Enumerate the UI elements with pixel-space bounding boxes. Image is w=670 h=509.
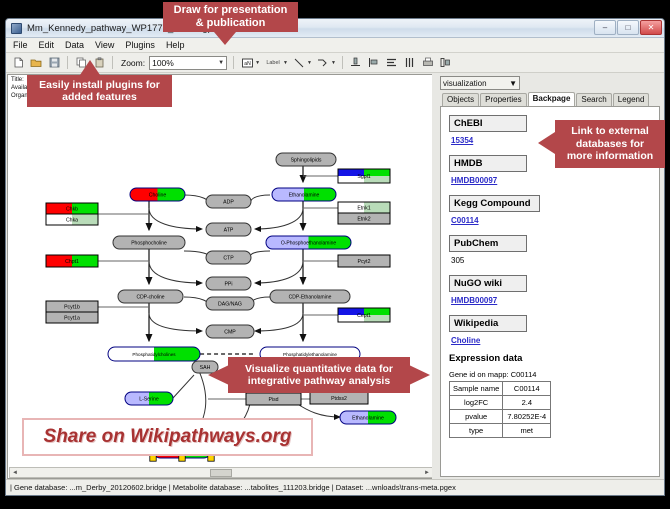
data-node-tool[interactable]: aN ▼ [240, 56, 260, 70]
callout-quant-arrow-right [409, 365, 430, 385]
metabolite-label: DAG/NAG [218, 301, 242, 307]
expression-row-value: C00114 [503, 382, 551, 396]
side-panel-tabs[interactable]: Objects Properties Backpage Search Legen… [437, 92, 663, 106]
metabolite-label: Sphingolipids [291, 157, 322, 163]
gene-node-etnk1[interactable]: Etnk1 [338, 202, 390, 213]
gene-label: Pcyt1a [64, 316, 80, 322]
group-icon[interactable] [439, 56, 453, 70]
metabolite-node-cmp[interactable]: CMP [206, 325, 254, 338]
metabolite-label: ATP [224, 227, 234, 233]
expression-row-label: pvalue [450, 410, 503, 424]
tab-objects[interactable]: Objects [442, 93, 479, 106]
db-header-hmdb: HMDB [449, 155, 527, 172]
expression-row-value: met [503, 424, 551, 438]
zoom-label: Zoom: [121, 58, 145, 68]
save-icon[interactable] [47, 56, 61, 70]
align-top-icon[interactable] [349, 56, 363, 70]
gene-node-pcyt2[interactable]: Pcyt2 [338, 255, 390, 267]
line-tool[interactable]: ▼ [292, 56, 312, 70]
callout-quant-arrow-left [208, 365, 229, 385]
metabolite-node-ctp[interactable]: CTP [206, 251, 251, 264]
menu-edit[interactable]: Edit [38, 40, 56, 50]
window-controls[interactable]: – □ ✕ [594, 20, 662, 35]
metabolite-label: CDP-Ethanolamine [289, 294, 332, 300]
expression-row-label: log2FC [450, 396, 503, 410]
callout-link-arrow [538, 132, 555, 154]
callout-draw-line2: & publication [174, 17, 288, 30]
metabolite-label: Phosphocholine [131, 240, 167, 246]
pathway-nodes-layer[interactable]: SphingolipidsCholineEthanolamineADPATPPh… [46, 153, 396, 461]
chevron-down-icon: ▼ [218, 60, 224, 66]
metabolite-node-dag-nag[interactable]: DAG/NAG [206, 297, 254, 310]
db-link-hmdb[interactable]: HMDB00097 [451, 176, 659, 185]
callout-link-line1: Link to external [567, 125, 653, 137]
metabolite-node-choline-top[interactable]: Choline [130, 188, 185, 201]
db-header-wikipedia: Wikipedia [449, 315, 527, 332]
db-header-kegg: Kegg Compound [449, 195, 540, 212]
metabolite-node-ppi[interactable]: PPi [206, 277, 251, 290]
data-node-icon[interactable]: aN [240, 56, 254, 70]
metabolite-node-ethanolamine-bottom[interactable]: Ethanolamine [340, 411, 396, 424]
visualization-row: visualization ▼ [437, 74, 663, 92]
db-header-nugo: NuGO wiki [449, 275, 527, 292]
metabolite-node-cdp-ethanolamine[interactable]: CDP-Ethanolamine [270, 290, 350, 303]
db-header-pubchem: PubChem [449, 235, 527, 252]
metabolite-label: CDP-choline [136, 294, 164, 300]
callout-quant-line2: integrative pathway analysis [245, 375, 393, 387]
callout-link-line2: databases for [567, 138, 653, 150]
gene-label: Pisd [268, 397, 278, 403]
metabolite-node-sphingolipids[interactable]: Sphingolipids [276, 153, 336, 166]
zoom-combobox[interactable]: 100% ▼ [149, 56, 227, 70]
gene-label: Cept1 [357, 313, 371, 319]
new-file-icon[interactable] [11, 56, 25, 70]
toolbar-separator [67, 56, 68, 69]
gene-node-pcyt1a[interactable]: Pcyt1a [46, 312, 98, 323]
callout-plugins-arrow [80, 60, 100, 75]
menu-help[interactable]: Help [165, 40, 186, 50]
label-tool-icon[interactable]: Label [264, 56, 282, 70]
minimize-button[interactable]: – [594, 20, 616, 35]
gene-label: Chpt1 [65, 259, 79, 265]
metabolite-label: CTP [223, 255, 234, 261]
maximize-button[interactable]: □ [617, 20, 639, 35]
gene-node-chkb[interactable]: Chkb [46, 203, 98, 214]
gene-label: Chkb [66, 207, 78, 213]
chevron-down-icon[interactable]: ▼ [331, 60, 336, 66]
expression-table-row: Sample nameC00114 [450, 382, 551, 396]
metabolite-label: ADP [223, 199, 234, 205]
gene-node-etnk2[interactable]: Etnk2 [338, 213, 390, 224]
gene-node-chpt1[interactable]: Chpt1 [46, 255, 98, 267]
gene-node-ptdss2[interactable]: Ptdss2 [310, 392, 368, 404]
callout-visualize-quantitative-data: Visualize quantitative data for integrat… [228, 357, 410, 393]
print-icon[interactable] [421, 56, 435, 70]
callout-install-plugins: Easily install plugins for added feature… [27, 75, 172, 107]
tab-legend[interactable]: Legend [613, 93, 650, 106]
callout-external-links: Link to external databases for more info… [555, 120, 665, 168]
db-header-chebi: ChEBI [449, 115, 527, 132]
toolbar-separator-2 [112, 56, 113, 69]
metabolite-node-cdp-choline[interactable]: CDP-choline [118, 290, 183, 303]
expression-table: Sample nameC00114log2FC2.4pvalue7.80252E… [449, 381, 551, 438]
expression-row-value: 7.80252E-4 [503, 410, 551, 424]
zoom-value: 100% [152, 58, 174, 68]
toolbar-separator-4 [342, 56, 343, 69]
callout-draw-for-publication: Draw for presentation & publication [163, 2, 298, 32]
expression-row-label: type [450, 424, 503, 438]
metabolite-node-ethanolamine-top[interactable]: Ethanolamine [272, 188, 336, 201]
tab-properties[interactable]: Properties [480, 93, 526, 106]
gene-label: Sgpl1 [357, 174, 370, 180]
metabolite-node-o-phosphoethanolamine[interactable]: O-Phosphoethanolamine [266, 236, 351, 249]
callout-draw-line1: Draw for presentation [174, 4, 288, 17]
distribute-icon[interactable] [403, 56, 417, 70]
status-bar: | Gene database: ...m_Derby_20120602.bri… [6, 479, 664, 495]
expression-data-title: Expression data [449, 353, 659, 364]
line-tool-icon[interactable] [292, 56, 306, 70]
db-link-nugo[interactable]: HMDB00097 [451, 296, 659, 305]
scroll-thumb[interactable] [210, 469, 232, 477]
metabolite-node-phosphatidylcholines[interactable]: Phosphatidylcholines [108, 347, 200, 361]
gene-id-line: Gene id on mapp: C00114 [449, 370, 659, 379]
metabolite-node-atp[interactable]: ATP [206, 223, 251, 236]
visualization-value: visualization [443, 79, 487, 88]
callout-plugins-line1: Easily install plugins for [39, 79, 160, 91]
title-bar: Mm_Kennedy_pathway_WP1771_45176.gpml – □… [6, 19, 664, 38]
callout-share-wikipathways: Share on Wikipathways.org [22, 418, 313, 456]
toolbar-separator-3 [233, 56, 234, 69]
metabolite-node-adp[interactable]: ADP [206, 195, 251, 208]
callout-draw-arrow [214, 32, 236, 45]
tool-bar: Zoom: 100% ▼ aN ▼ Label ▼ ▼ ▼ [6, 53, 664, 73]
tab-backpage[interactable]: Backpage [528, 92, 576, 106]
db-value-pubchem: 305 [451, 256, 659, 265]
callout-quant-line1: Visualize quantitative data for [245, 363, 393, 375]
metabolite-label: Phosphatidylcholines [132, 352, 176, 357]
gene-label: Etnk1 [357, 206, 370, 212]
metabolite-label: O-Phosphoethanolamine [281, 240, 337, 246]
close-button[interactable]: ✕ [640, 20, 662, 35]
align-stack-icon[interactable] [385, 56, 399, 70]
metabolite-label: L-Serine [139, 396, 159, 402]
metabolite-node-phosphocholine[interactable]: Phosphocholine [113, 236, 185, 249]
chevron-down-icon[interactable]: ▼ [283, 60, 288, 66]
callout-link-line3: more information [567, 150, 653, 162]
metabolite-label: Ethanolamine [352, 415, 384, 421]
chevron-down-icon: ▼ [509, 79, 517, 88]
align-left-icon[interactable] [367, 56, 381, 70]
db-link-kegg[interactable]: C00114 [451, 216, 659, 225]
scroll-left-icon[interactable]: ◄ [10, 470, 20, 476]
interaction-tool[interactable]: ▼ [316, 56, 336, 70]
svg-text:aN: aN [244, 61, 251, 67]
menu-file[interactable]: File [12, 40, 29, 50]
gene-label: Etnk2 [357, 217, 370, 223]
expression-table-row: log2FC2.4 [450, 396, 551, 410]
gene-node-pcyt1b[interactable]: Pcyt1b [46, 301, 98, 312]
menu-bar: File Edit Data View Plugins Help [6, 38, 664, 53]
metabolite-label: PPi [224, 281, 232, 287]
open-folder-icon[interactable] [29, 56, 43, 70]
label-tool[interactable]: Label ▼ [264, 56, 288, 70]
gene-label: Chka [66, 218, 78, 224]
gene-node-chka[interactable]: Chka [46, 214, 98, 225]
chevron-down-icon[interactable]: ▼ [307, 60, 312, 66]
metabolite-node-l-serine-left[interactable]: L-Serine [125, 392, 173, 405]
chevron-down-icon[interactable]: ▼ [255, 60, 260, 66]
gene-label: Ptdss2 [331, 396, 347, 402]
menu-data[interactable]: Data [64, 40, 85, 50]
metabolite-label: Choline [149, 192, 167, 198]
status-text: | Gene database: ...m_Derby_20120602.bri… [10, 483, 456, 492]
canvas-horizontal-scrollbar[interactable]: ◄ ► [9, 467, 432, 478]
scroll-right-icon[interactable]: ► [422, 470, 432, 476]
interaction-tool-icon[interactable] [316, 56, 330, 70]
metabolite-label: Ethanolamine [289, 192, 320, 198]
menu-view[interactable]: View [94, 40, 115, 50]
callout-plugins-line2: added features [39, 91, 160, 103]
gene-node-cept1[interactable]: Cept1 [338, 308, 390, 322]
menu-plugins[interactable]: Plugins [124, 40, 156, 50]
metabolite-label: CMP [224, 329, 236, 335]
app-logo-icon [11, 23, 22, 34]
expression-row-value: 2.4 [503, 396, 551, 410]
db-link-wikipedia[interactable]: Choline [451, 336, 659, 345]
gene-label: Pcyt1b [64, 305, 80, 311]
gene-node-pisd[interactable]: Pisd [246, 393, 301, 405]
gene-node-sgpl1[interactable]: Sgpl1 [338, 169, 390, 183]
expression-table-row: pvalue7.80252E-4 [450, 410, 551, 424]
gene-label: Pcyt2 [358, 259, 371, 265]
expression-row-label: Sample name [450, 382, 503, 396]
visualization-combobox[interactable]: visualization ▼ [440, 76, 520, 90]
tab-search[interactable]: Search [576, 93, 611, 106]
expression-table-row: typemet [450, 424, 551, 438]
